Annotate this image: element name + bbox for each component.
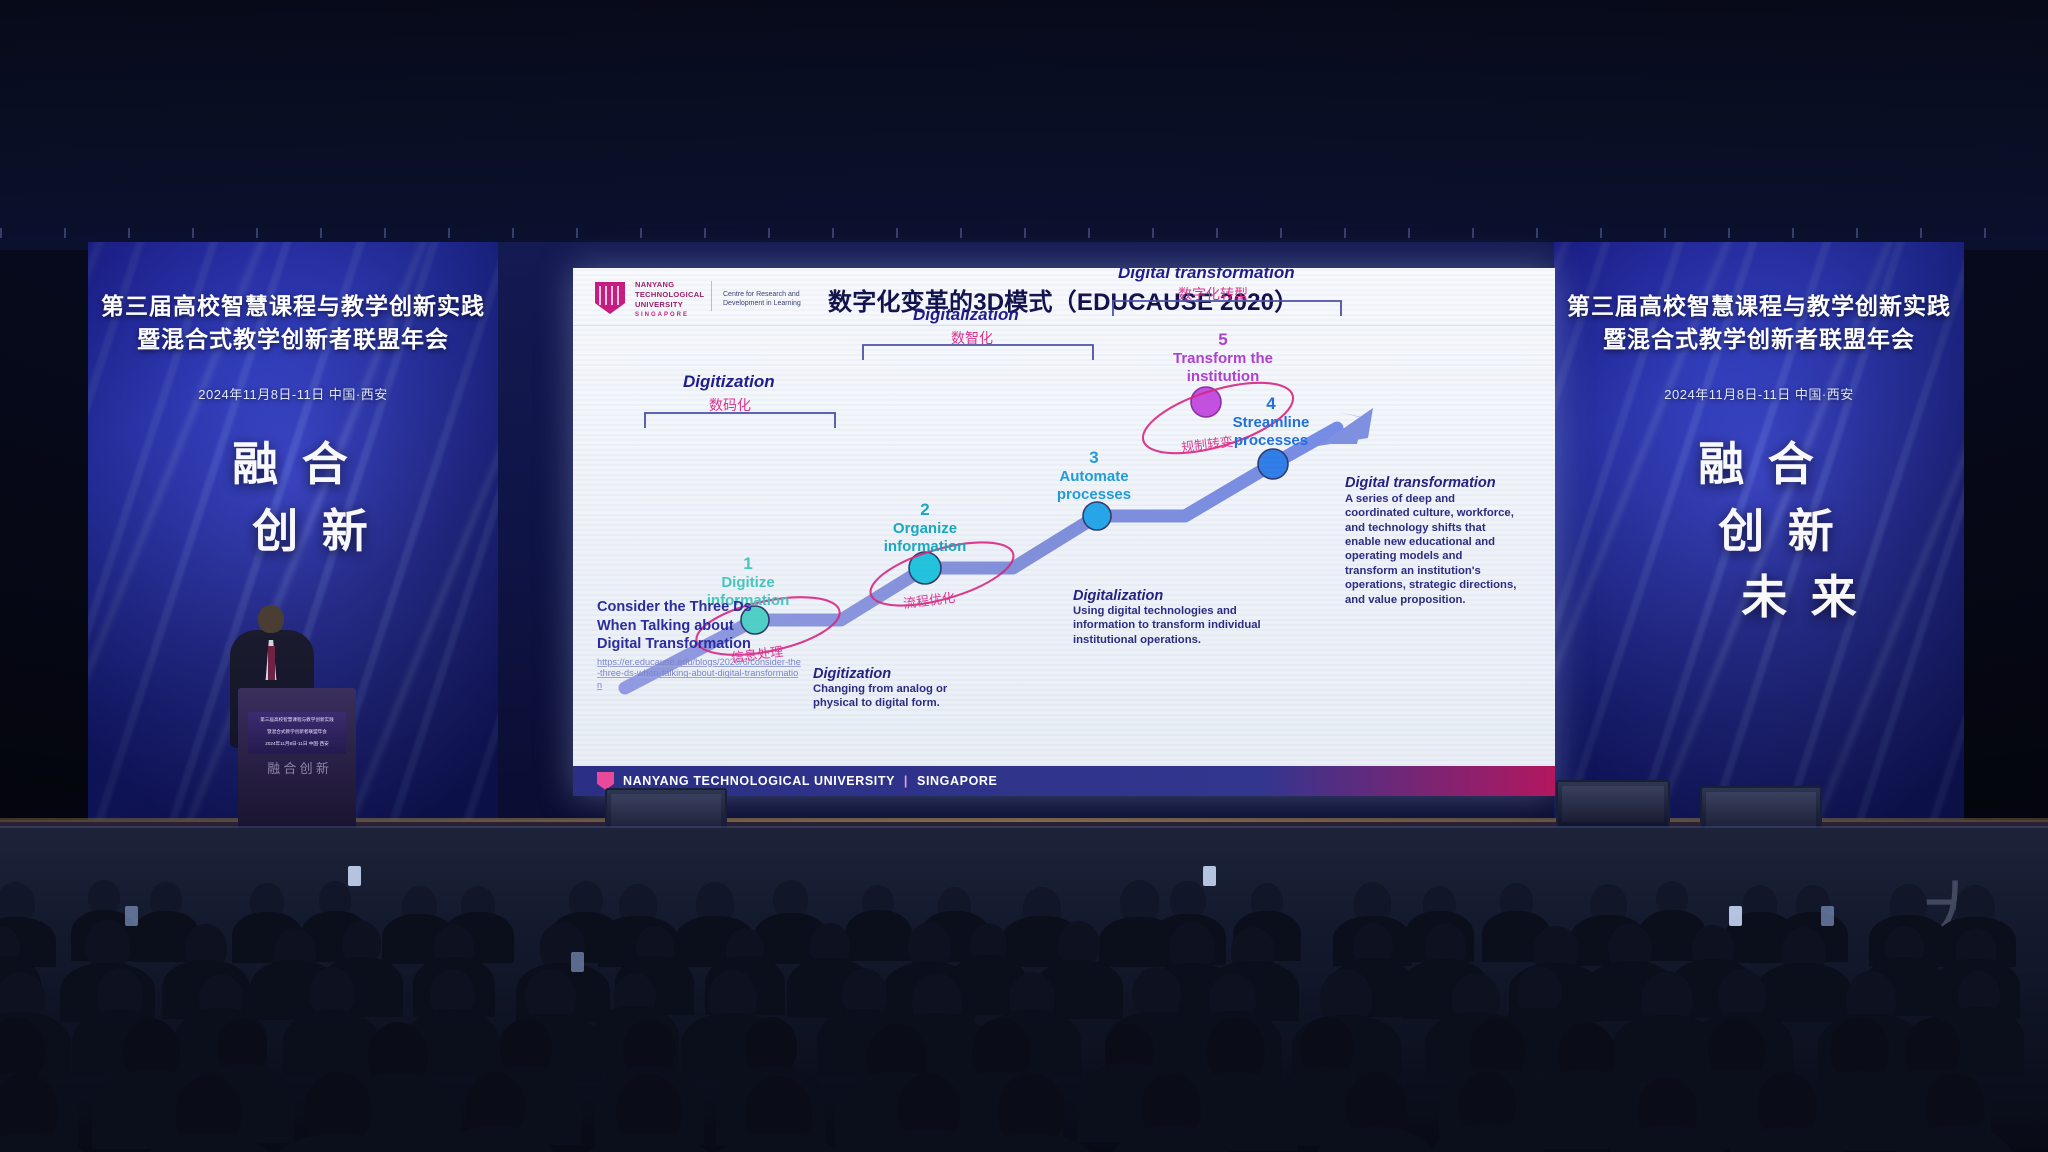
podium-calligraphy: 融 合 创 新 — [252, 760, 344, 778]
hall-ceiling-haze — [0, 0, 2048, 250]
step-1-line1: Digitize — [693, 574, 803, 592]
source-title-line3: Digital Transformation — [597, 635, 802, 654]
definition-body: Using digital technologies and informati… — [1073, 604, 1263, 647]
definition-term: Digital transformation — [1345, 476, 1517, 492]
audience-member-shoulders — [845, 910, 912, 961]
step-5: 5 Transform the institution — [1149, 330, 1297, 385]
footer-university: NANYANG TECHNOLOGICAL UNIVERSITY — [623, 774, 895, 788]
source-title-line2: When Talking about — [597, 617, 802, 636]
calligraphy-char-1: 融 合 — [88, 432, 498, 499]
audience-phone-screen — [348, 866, 361, 886]
definition-body: A series of deep and coordinated culture… — [1345, 492, 1517, 608]
phase-label-digitalization-cn: 数智化 — [951, 328, 993, 348]
audience-phone-screen — [1203, 866, 1216, 886]
step-5-number: 5 — [1149, 330, 1297, 350]
podium-plate-line1: 第三届高校智慧课程与教学创新实践 — [248, 717, 346, 724]
step-3-line2: processes — [1035, 486, 1153, 504]
banner-title-line1: 第三届高校智慧课程与教学创新实践 — [1554, 290, 1964, 323]
source-url-link[interactable]: https://er.educause.edu/blogs/2020/6/con… — [597, 657, 802, 692]
podium-plate-line3: 2024年11月8日-11日 中国·西安 — [248, 741, 346, 748]
step-2-number: 2 — [865, 500, 985, 520]
step-2-line2: information — [865, 538, 985, 556]
step-5-line2: institution — [1149, 368, 1297, 386]
audience-member-shoulders — [1756, 963, 1851, 1022]
phase-label-digitization-en: Digitization — [683, 372, 775, 392]
phase-label-digital-transformation-cn: 数字化转型 — [1178, 284, 1248, 304]
definition-term: Digitization — [813, 666, 993, 682]
podium-signage: 第三届高校智慧课程与教学创新实践 暨混合式教学创新者联盟年会 2024年11月8… — [248, 712, 346, 754]
step-4-number: 4 — [1209, 394, 1333, 414]
step-2: 2 Organize information — [865, 500, 985, 555]
step-3-number: 3 — [1035, 448, 1153, 468]
audience-member-shoulders — [283, 1010, 379, 1078]
source-title-line1: Consider the Three Ds — [597, 598, 802, 617]
banner-date-right: 2024年11月8日-11日 中国·西安 — [1554, 384, 1964, 403]
banner-title-line1: 第三届高校智慧课程与教学创新实践 — [88, 290, 498, 323]
phase-label-digital-transformation-en: Digital transformation — [1118, 268, 1295, 283]
speaker-head — [258, 605, 284, 633]
phase-label-digitalization-en: Digitalization — [913, 305, 1019, 325]
presentation-slide: NANYANG TECHNOLOGICAL UNIVERSITY SINGAPO… — [573, 268, 1555, 796]
step-1-number: 1 — [693, 554, 803, 574]
calligraphy-char-2: 创 新 — [1594, 499, 1964, 566]
definition-body: Changing from analog or physical to digi… — [813, 682, 993, 711]
audience-phone-screen — [571, 952, 584, 972]
step-3: 3 Automate processes — [1035, 448, 1153, 503]
definition-digitalization: Digitalization Using digital technologie… — [1073, 588, 1263, 647]
audience-phone-screen — [1821, 906, 1834, 926]
step-3-line1: Automate — [1035, 468, 1153, 486]
calligraphy-char-3: 未 来 — [1640, 565, 1964, 632]
stage-monitor-center — [1556, 780, 1670, 828]
calligraphy-char-1: 融 合 — [1554, 432, 1964, 499]
audience-phone-screen — [1729, 906, 1742, 926]
definition-term: Digitalization — [1073, 588, 1263, 604]
podium-plate-line2: 暨混合式教学创新者联盟年会 — [248, 729, 346, 736]
banner-title-left: 第三届高校智慧课程与教学创新实践 暨混合式教学创新者联盟年会 — [88, 290, 498, 357]
step-4-line1: Streamline — [1209, 414, 1333, 432]
definition-digital-transformation: Digital transformation A series of deep … — [1345, 476, 1517, 607]
banner-date-left: 2024年11月8日-11日 中国·西安 — [88, 384, 498, 403]
speaker-tie — [268, 646, 275, 680]
source-reference-box: Consider the Three Ds When Talking about… — [597, 598, 802, 692]
banner-calligraphy-left: 融 合 创 新 — [88, 432, 498, 565]
banner-right: 第三届高校智慧课程与教学创新实践 暨混合式教学创新者联盟年会 2024年11月8… — [1554, 242, 1964, 834]
phase-label-digitization-cn: 数码化 — [709, 395, 751, 415]
footer-country: SINGAPORE — [917, 774, 997, 788]
slide-footer-text: NANYANG TECHNOLOGICAL UNIVERSITY | SINGA… — [623, 774, 997, 788]
definition-digitization: Digitization Changing from analog or phy… — [813, 666, 993, 711]
step-5-line1: Transform the — [1149, 350, 1297, 368]
calligraphy-char-2: 创 新 — [128, 499, 498, 566]
banner-title-right: 第三届高校智慧课程与教学创新实践 暨混合式教学创新者联盟年会 — [1554, 290, 1964, 357]
conference-stage-scene: 第三届高校智慧课程与教学创新实践 暨混合式教学创新者联盟年会 2024年11月8… — [0, 0, 2048, 1152]
audience-phone-screen — [125, 906, 138, 926]
banner-calligraphy-right: 融 合 创 新 未 来 — [1554, 432, 1964, 632]
banner-title-line2: 暨混合式教学创新者联盟年会 — [1554, 323, 1964, 356]
footer-separator: | — [899, 774, 913, 788]
banner-title-line2: 暨混合式教学创新者联盟年会 — [88, 323, 498, 356]
step-2-line1: Organize — [865, 520, 985, 538]
